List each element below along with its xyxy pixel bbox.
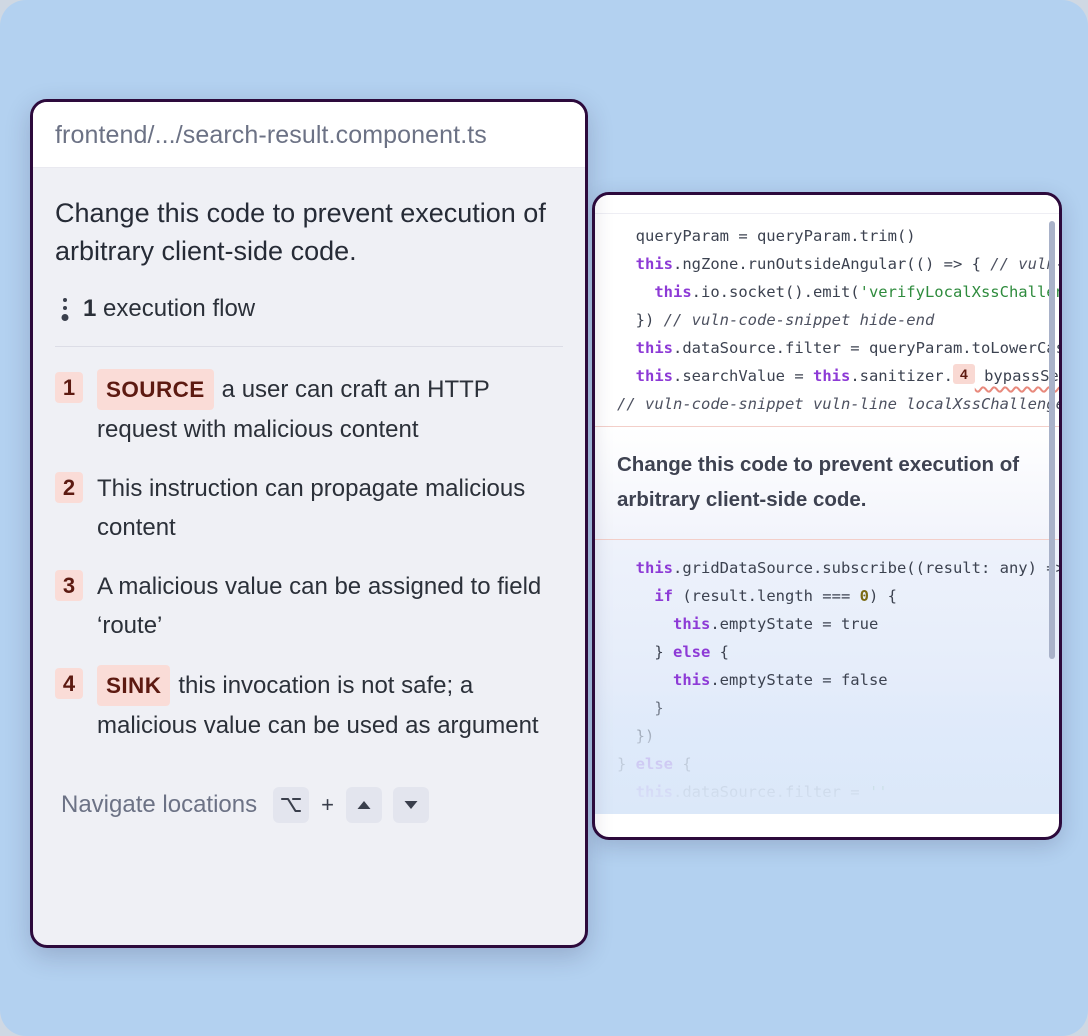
- arrow-up-key-icon[interactable]: [346, 787, 382, 823]
- flow-step-number: 1: [55, 372, 83, 403]
- code-scrollbar-thumb[interactable]: [1049, 221, 1055, 659]
- execution-flow-count: 1: [83, 295, 96, 322]
- issue-card-header: frontend/.../search-result.component.ts: [33, 102, 585, 168]
- navigate-locations-label: Navigate locations: [61, 791, 257, 819]
- section-divider: [55, 346, 563, 347]
- flow-step-marker-4[interactable]: 4: [953, 364, 975, 384]
- flow-step-4[interactable]: 4 SINKthis invocation is not safe; a mal…: [55, 665, 563, 745]
- flow-step-description: A malicious value can be assigned to fie…: [97, 567, 563, 645]
- flow-step-description: SOURCEa user can craft an HTTP request w…: [97, 369, 563, 449]
- execution-flow-dots-icon: [61, 294, 69, 324]
- execution-flow-text: execution flow: [103, 295, 255, 322]
- flow-step-number: 4: [55, 668, 83, 699]
- flow-step-description: SINKthis invocation is not safe; a malic…: [97, 665, 563, 745]
- option-key-icon[interactable]: [273, 787, 309, 823]
- screenshot-root: queryParam = queryParam.trim() this.ngZo…: [0, 0, 1088, 1036]
- code-scrollbar[interactable]: [1049, 221, 1055, 829]
- flow-step-description: This instruction can propagate malicious…: [97, 469, 563, 547]
- step-tag-source: SOURCE: [97, 369, 214, 410]
- file-path-label[interactable]: frontend/.../search-result.component.ts: [55, 121, 563, 150]
- issue-card-body: Change this code to prevent execution of…: [33, 168, 585, 823]
- flow-step-3[interactable]: 3 A malicious value can be assigned to f…: [55, 567, 563, 645]
- step-body-text: A malicious value can be assigned to fie…: [97, 573, 541, 639]
- flow-step-number: 3: [55, 570, 83, 601]
- execution-flow-summary[interactable]: 1 execution flow: [55, 294, 563, 346]
- flow-step-1[interactable]: 1 SOURCEa user can craft an HTTP request…: [55, 369, 563, 449]
- code-card-issue-banner: Change this code to prevent execution of…: [595, 426, 1059, 540]
- issue-title: Change this code to prevent execution of…: [55, 194, 555, 270]
- step-tag-sink: SINK: [97, 665, 170, 706]
- issue-details-card: frontend/.../search-result.component.ts …: [30, 99, 588, 948]
- key-combo-plus: +: [321, 792, 334, 818]
- flow-step-list: 1 SOURCEa user can craft an HTTP request…: [55, 369, 563, 745]
- code-card-top-strip: [595, 195, 1059, 214]
- code-preview-card: queryParam = queryParam.trim() this.ngZo…: [592, 192, 1062, 840]
- flow-step-number: 2: [55, 472, 83, 503]
- code-block-top[interactable]: queryParam = queryParam.trim() this.ngZo…: [595, 214, 1059, 426]
- arrow-down-key-icon[interactable]: [393, 787, 429, 823]
- step-body-text: This instruction can propagate malicious…: [97, 475, 525, 541]
- flow-step-2[interactable]: 2 This instruction can propagate malicio…: [55, 469, 563, 547]
- navigate-locations-footer: Navigate locations +: [55, 765, 563, 823]
- execution-flow-label: 1 execution flow: [83, 295, 255, 323]
- code-block-bottom[interactable]: this.gridDataSource.subscribe((result: a…: [595, 540, 1059, 814]
